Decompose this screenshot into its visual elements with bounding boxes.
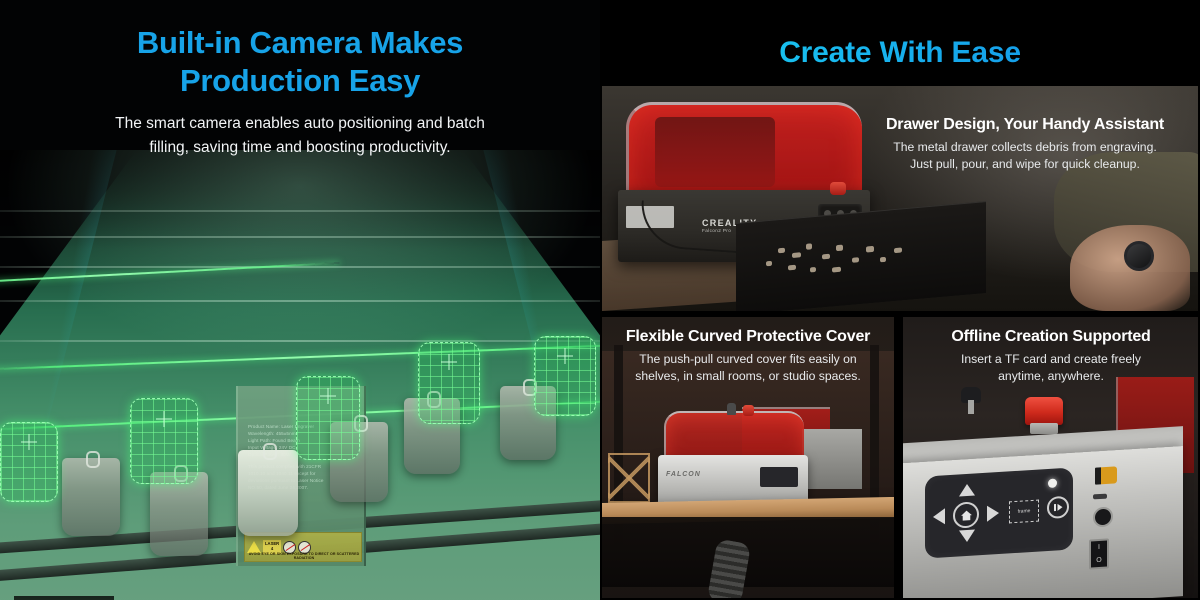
panel-offline-creation[interactable]: frame I O Offline Creation Supported [903,317,1198,598]
camera-position-grid [418,342,480,424]
offline-caption-subtitle: Insert a TF card and create freely anyti… [911,351,1191,386]
wire-basket-decor [608,453,650,503]
bed-slat [0,236,600,238]
emergency-stop-button[interactable] [743,405,754,416]
debris-bit [778,248,785,254]
warning-caution-text: AVOID EYE OR SKIN EXPOSURE TO DIRECT OR … [247,552,361,560]
power-switch[interactable]: I O [1089,538,1109,569]
drawer-caption-subtitle: The metal drawer collects debris from en… [860,139,1190,174]
home-icon [960,508,973,522]
debris-bit [836,245,843,252]
right-headline: Create With Ease [600,36,1200,70]
offline-caption: Offline Creation Supported Insert a TF c… [911,328,1191,386]
left-headline-line1: Built-in Camera Makes [137,25,463,60]
camera-position-grid [130,398,198,484]
play-pause-icon [1052,501,1064,514]
left-subtitle: The smart camera enables auto positionin… [55,112,545,160]
offline-sub-line1: Insert a TF card and create freely [961,352,1141,366]
arrow-up-icon[interactable] [959,483,975,496]
camera-feature-section: Product Name: Laser Engraver Wavelength:… [0,0,600,600]
arrow-left-icon[interactable] [933,508,945,525]
offline-sub-line2: anytime, anywhere. [998,369,1104,383]
cover-caption: Flexible Curved Protective Cover The pus… [608,328,888,386]
offline-caption-title: Offline Creation Supported [911,328,1191,346]
debris-bit [766,261,772,267]
drawer-sub-line2: Just pull, pour, and wipe for quick clea… [910,157,1140,171]
camera-position-grid [296,376,360,460]
left-subtitle-line1: The smart camera enables auto positionin… [115,115,485,132]
feature-collage: Product Name: Laser Engraver Wavelength:… [0,0,1200,600]
left-headline-line2: Production Easy [180,63,420,98]
falcon-machine: FALCON [658,411,808,507]
joystick-knob[interactable] [727,403,736,415]
brand-logo: FALCON [666,471,701,478]
workpiece-tag [150,472,208,556]
panel-drawer-design[interactable]: CREALITY Falcon2 Pro [602,86,1198,311]
emergency-stop-button[interactable] [830,182,846,195]
laser-class-number: 4 [271,546,273,551]
offline-control-panel[interactable]: frame [925,467,1073,558]
cover-caption-subtitle: The push-pull curved cover fits easily o… [608,351,888,386]
drawer-caption-title: Drawer Design, Your Handy Assistant [860,116,1190,134]
laser-head-aperture [14,596,114,600]
debris-bit [894,247,902,253]
panel-curved-cover[interactable]: FALCON Flexible Curved Protective Cover … [602,317,894,598]
machine-interior [655,117,775,187]
usb-port[interactable] [1093,494,1107,500]
camera-position-grid [0,422,58,502]
bed-slat [0,210,600,212]
bed-slat [0,266,600,268]
laser-warning-label: LASER 4 AVOID EYE OR SKIN EXPOSURE TO DI… [244,532,362,562]
wristwatch [1124,241,1154,271]
drawer-sub-line1: The metal drawer collects debris from en… [893,140,1157,154]
drawer-caption: Drawer Design, Your Handy Assistant The … [860,116,1190,174]
create-with-ease-section: Create With Ease CREALITY Falcon2 Pro [600,0,1200,600]
debris-bit [866,246,874,253]
curved-protective-cover[interactable] [664,411,804,461]
debris-bit [788,265,796,271]
workpiece-tag [62,458,120,536]
home-button[interactable] [953,501,979,529]
power-on-label: I [1098,544,1100,551]
bed-slat [0,300,600,302]
camera-position-grid [534,336,596,416]
debris-bit [810,267,816,273]
arrow-down-icon[interactable] [959,529,975,542]
debris-bit [832,267,841,273]
cover-sub-line1: The push-pull curved cover fits easily o… [639,352,856,366]
laser-bed-scene: Product Name: Laser Engraver Wavelength:… [0,150,600,600]
frame-button[interactable]: frame [1009,500,1039,524]
debris-bit [822,254,830,260]
joystick-knob[interactable] [961,387,981,413]
debris-bit [880,257,886,263]
debris-bit [852,257,859,263]
cover-sub-line2: shelves, in small rooms, or studio space… [635,369,861,383]
start-pause-button[interactable] [1047,496,1069,519]
bed-slat [0,340,600,342]
arrow-right-icon[interactable] [987,505,999,522]
machine-rear-body [802,429,862,489]
emergency-stop-button[interactable] [1025,397,1063,425]
machine-control-pad[interactable] [760,467,798,487]
workpiece-tag [238,450,298,536]
status-led-indicator [1048,478,1057,488]
tf-card-slot[interactable] [1095,466,1117,484]
debris-bit [806,243,812,250]
machine-red-cover [626,102,862,202]
left-headline: Built-in Camera Makes Production Easy [0,24,600,100]
power-off-label: O [1096,557,1101,564]
debris-bit [792,252,801,258]
frame-button-label: frame [1018,508,1031,515]
left-subtitle-line2: filling, saving time and boosting produc… [149,139,450,156]
cover-caption-title: Flexible Curved Protective Cover [608,328,888,346]
